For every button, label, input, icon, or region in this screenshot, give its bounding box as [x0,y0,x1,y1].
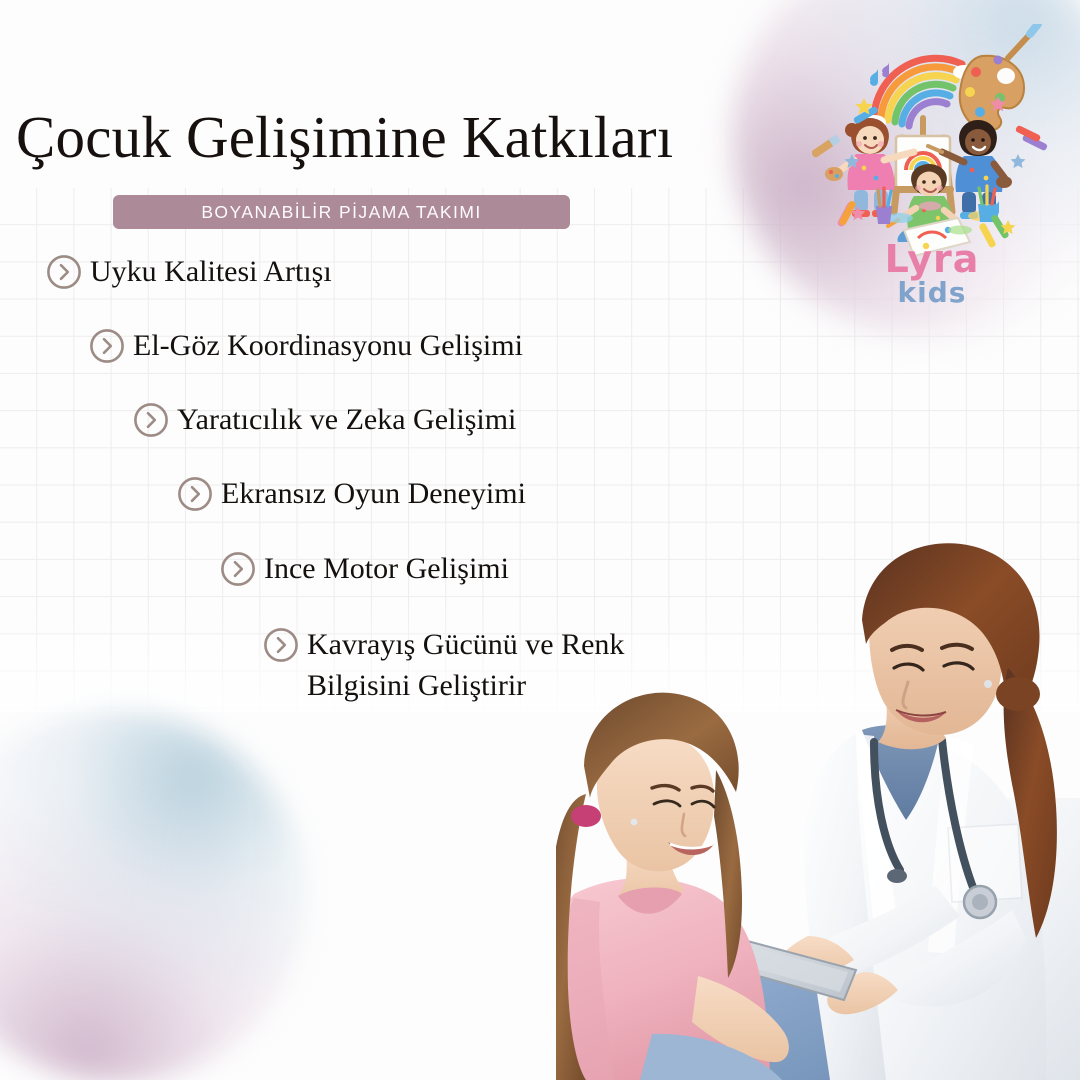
brand-logo[interactable]: Lyra kids [812,24,1052,304]
chevron-right-circle-icon [220,551,256,587]
list-item-label: El-Göz Koordinasyonu Gelişimi [133,326,523,367]
list-item[interactable]: El-Göz Koordinasyonu Gelişimi [89,326,523,367]
list-item[interactable]: Kavrayış Gücünü ve Renk Bilgisini Gelişt… [263,625,624,707]
children-painting-circle-illustration [812,24,1048,256]
list-item-label: Uyku Kalitesi Artışı [90,252,332,293]
list-item[interactable]: Ekransız Oyun Deneyimi [177,474,526,515]
list-item-label: Yaratıcılık ve Zeka Gelişimi [177,400,516,441]
list-item-label: Kavrayış Gücünü ve Renk Bilgisini Gelişt… [307,625,624,707]
list-item[interactable]: Ince Motor Gelişimi [220,549,509,590]
list-item[interactable]: Uyku Kalitesi Artışı [46,252,332,293]
list-item-label: Ekransız Oyun Deneyimi [221,474,526,515]
chevron-right-circle-icon [177,476,213,512]
chevron-right-circle-icon [263,627,299,663]
list-item-label: Ince Motor Gelişimi [264,549,509,590]
poster-canvas: Çocuk Gelişimine Katkıları BOYANABİLİR P… [0,0,1080,1080]
chevron-right-circle-icon [89,328,125,364]
list-item[interactable]: Yaratıcılık ve Zeka Gelişimi [133,400,516,441]
logo-brand-secondary: kids [898,276,967,304]
chevron-right-circle-icon [133,402,169,438]
chevron-right-circle-icon [46,254,82,290]
logo-brand-primary: Lyra [885,237,980,281]
